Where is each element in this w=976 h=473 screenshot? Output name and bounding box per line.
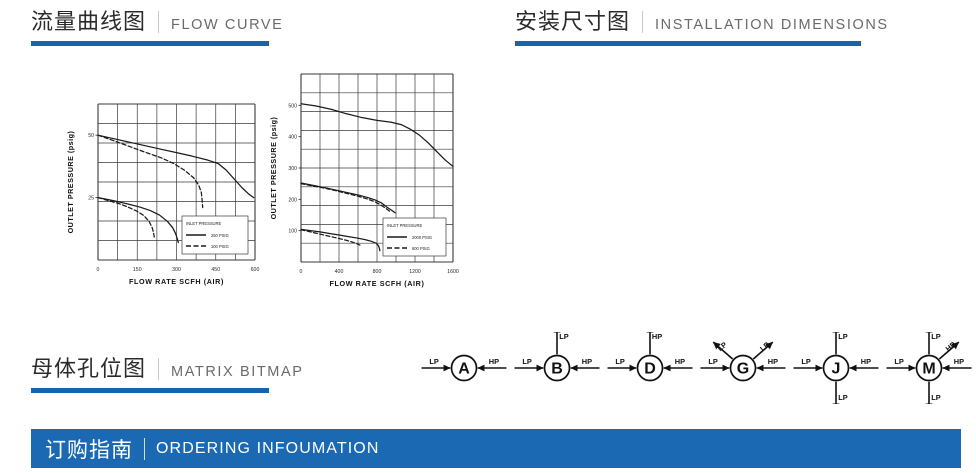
svg-text:HP: HP — [861, 357, 871, 366]
section-rule-matrix-bitmap — [31, 388, 269, 393]
svg-text:150: 150 — [133, 267, 142, 273]
port-symbol-j: LPHPLPLPJ — [790, 332, 883, 404]
svg-text:2000 PSIG: 2000 PSIG — [412, 235, 432, 240]
svg-text:LP: LP — [522, 357, 532, 366]
svg-text:LP: LP — [931, 393, 941, 402]
banner-divider — [144, 438, 145, 460]
port-symbol-svg-j: LPHPLPLPJ — [790, 332, 883, 404]
svg-text:0: 0 — [300, 269, 303, 275]
section-title-en-flow-curve: FLOW CURVE — [171, 17, 283, 33]
svg-text:LP: LP — [801, 357, 811, 366]
port-symbol-d: LPHPHPD — [604, 332, 697, 404]
svg-text:A: A — [458, 361, 470, 378]
port-symbol-svg-g: LPHPLPLPG — [697, 332, 790, 404]
svg-text:HP: HP — [768, 357, 778, 366]
section-title-en-matrix-bitmap: MATRIX BITMAP — [171, 364, 304, 380]
svg-text:250 PSIG: 250 PSIG — [211, 233, 229, 238]
svg-text:J: J — [832, 361, 841, 378]
svg-text:600 PSIG: 600 PSIG — [412, 246, 430, 251]
port-symbol-svg-m: LPHPLPHPLPM — [883, 332, 976, 404]
svg-text:INLET PRESSURE: INLET PRESSURE — [186, 221, 221, 226]
svg-text:LP: LP — [708, 357, 718, 366]
section-header-installation-dimensions: 安装尺寸图 INSTALLATION DIMENSIONS — [515, 12, 889, 34]
svg-text:600: 600 — [251, 267, 260, 273]
title-divider — [158, 11, 159, 33]
svg-text:25: 25 — [88, 196, 94, 202]
svg-text:LP: LP — [838, 332, 848, 341]
svg-text:1600: 1600 — [447, 269, 459, 275]
svg-text:500: 500 — [288, 103, 297, 109]
svg-text:G: G — [737, 361, 749, 378]
svg-text:100: 100 — [288, 229, 297, 235]
svg-text:LP: LP — [615, 357, 625, 366]
svg-text:M: M — [922, 361, 935, 378]
section-rule-flow-curve — [31, 41, 269, 46]
svg-text:400: 400 — [288, 135, 297, 141]
banner-title-en: ORDERING INFOUMATION — [156, 440, 379, 458]
svg-text:LP: LP — [429, 357, 439, 366]
svg-text:800: 800 — [373, 269, 382, 275]
svg-text:400: 400 — [335, 269, 344, 275]
section-title-cn-matrix-bitmap: 母体孔位图 — [31, 359, 146, 381]
svg-text:300: 300 — [172, 267, 181, 273]
svg-text:LP: LP — [559, 332, 569, 341]
port-symbol-svg-d: LPHPHPD — [604, 332, 697, 404]
svg-text:300: 300 — [288, 166, 297, 172]
svg-text:LP: LP — [931, 332, 941, 341]
svg-text:B: B — [551, 361, 563, 378]
svg-text:HP: HP — [652, 332, 662, 341]
section-header-flow-curve: 流量曲线图 FLOW CURVE — [31, 12, 283, 34]
svg-text:OUTLET PRESSURE (psig): OUTLET PRESSURE (psig) — [269, 116, 278, 219]
svg-text:0: 0 — [97, 267, 100, 273]
svg-text:LP: LP — [894, 357, 904, 366]
title-divider — [158, 358, 159, 380]
section-title-cn-installation-dimensions: 安装尺寸图 — [515, 12, 630, 34]
section-title-cn-flow-curve: 流量曲线图 — [31, 12, 146, 34]
svg-text:HP: HP — [944, 340, 958, 354]
port-symbol-svg-a: LPHPA — [418, 332, 511, 404]
port-symbol-m: LPHPLPHPLPM — [883, 332, 976, 404]
svg-text:HP: HP — [489, 357, 499, 366]
section-rule-installation-dimensions — [515, 41, 861, 46]
chart-flow-curve-high-svg: 040080012001600100200300400500FLOW RATE … — [265, 68, 460, 296]
ordering-information-banner: 订购指南 ORDERING INFOUMATION — [31, 429, 961, 468]
svg-text:200: 200 — [288, 197, 297, 203]
svg-text:450: 450 — [211, 267, 220, 273]
title-divider — [642, 11, 643, 33]
svg-text:HP: HP — [675, 357, 685, 366]
port-symbol-row: LPHPALPHPLPBLPHPHPDLPHPLPLPGLPHPLPLPJLPH… — [418, 332, 976, 404]
section-title-en-installation-dimensions: INSTALLATION DIMENSIONS — [655, 17, 889, 33]
svg-text:50: 50 — [88, 133, 94, 139]
port-symbol-b: LPHPLPB — [511, 332, 604, 404]
svg-text:HP: HP — [582, 357, 592, 366]
svg-text:FLOW RATE SCFH (AIR): FLOW RATE SCFH (AIR) — [330, 279, 425, 288]
chart-flow-curve-low: 01503004506002550FLOW RATE SCFH (AIR)OUT… — [62, 98, 262, 296]
svg-text:HP: HP — [954, 357, 964, 366]
svg-text:INLET PRESSURE: INLET PRESSURE — [387, 223, 422, 228]
svg-text:D: D — [644, 361, 656, 378]
banner-title-cn: 订购指南 — [45, 434, 133, 464]
svg-text:OUTLET PRESSURE (psig): OUTLET PRESSURE (psig) — [66, 130, 75, 233]
section-header-matrix-bitmap: 母体孔位图 MATRIX BITMAP — [31, 359, 304, 381]
svg-text:100 PSIG: 100 PSIG — [211, 244, 229, 249]
svg-text:LP: LP — [838, 393, 848, 402]
port-symbol-g: LPHPLPLPG — [697, 332, 790, 404]
svg-text:1200: 1200 — [409, 269, 421, 275]
chart-flow-curve-high: 040080012001600100200300400500FLOW RATE … — [265, 68, 460, 296]
svg-text:LP: LP — [758, 340, 771, 353]
svg-text:LP: LP — [716, 340, 729, 353]
port-symbol-a: LPHPA — [418, 332, 511, 404]
port-symbol-svg-b: LPHPLPB — [511, 332, 604, 404]
svg-text:FLOW RATE SCFH (AIR): FLOW RATE SCFH (AIR) — [129, 277, 224, 286]
chart-flow-curve-low-svg: 01503004506002550FLOW RATE SCFH (AIR)OUT… — [62, 98, 262, 296]
